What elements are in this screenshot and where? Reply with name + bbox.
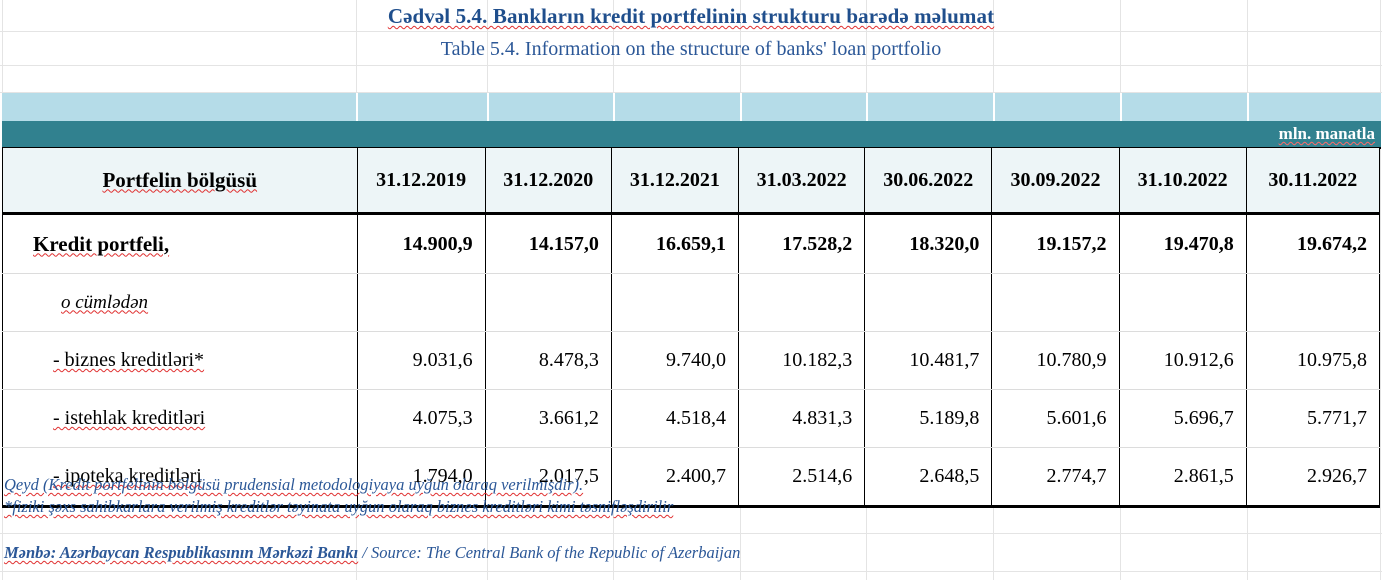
unit-label: mln. manatla bbox=[1279, 124, 1375, 144]
table-cell bbox=[865, 274, 992, 332]
table-cell: 19.470,8 bbox=[1119, 214, 1246, 274]
table-cell: 5.601,6 bbox=[992, 390, 1119, 448]
light-band bbox=[2, 93, 1381, 121]
source-label-az: Mənbə: Azərbaycan Respublikasının Mərkəz… bbox=[4, 543, 358, 562]
table-cell: 2.861,5 bbox=[1119, 448, 1246, 507]
column-header-date: 30.09.2022 bbox=[992, 148, 1119, 214]
footnote-methodology: Qeyd (Kredit portfelinin bölgüsü prudens… bbox=[4, 474, 864, 496]
column-header-label: Portfelin bölgüsü bbox=[3, 148, 358, 214]
table-cell: 4.518,4 bbox=[611, 390, 738, 448]
table-cell bbox=[1119, 274, 1246, 332]
table-cell: 2.648,5 bbox=[865, 448, 992, 507]
table-cell: 4.831,3 bbox=[739, 390, 865, 448]
table-cell: 2.926,7 bbox=[1246, 448, 1379, 507]
table-cell: 14.900,9 bbox=[357, 214, 485, 274]
column-header-date: 31.12.2021 bbox=[611, 148, 738, 214]
column-header-date: 31.10.2022 bbox=[1119, 148, 1246, 214]
table-cell: 9.740,0 bbox=[611, 332, 738, 390]
table-cell: 2.774,7 bbox=[992, 448, 1119, 507]
table-cell: 3.661,2 bbox=[485, 390, 611, 448]
unit-band: mln. manatla bbox=[2, 121, 1381, 149]
table-cell bbox=[992, 274, 1119, 332]
table-cell: 9.031,6 bbox=[357, 332, 485, 390]
table-cell: 17.528,2 bbox=[739, 214, 865, 274]
table-cell: 18.320,0 bbox=[865, 214, 992, 274]
table-cell bbox=[611, 274, 738, 332]
source-label-en: / Source: The Central Bank of the Republ… bbox=[358, 543, 740, 562]
page-title-en: Table 5.4. Information on the structure … bbox=[0, 30, 1382, 63]
table-cell: 5.696,7 bbox=[1119, 390, 1246, 448]
row-label: Kredit portfeli, bbox=[3, 214, 358, 274]
table-cell: 19.157,2 bbox=[992, 214, 1119, 274]
row-label: - biznes kreditləri* bbox=[3, 332, 358, 390]
table-cell bbox=[485, 274, 611, 332]
table-row: - istehlak kreditləri 4.075,3 3.661,2 4.… bbox=[3, 390, 1380, 448]
table-cell: 10.912,6 bbox=[1119, 332, 1246, 390]
table-row: Kredit portfeli, 14.900,9 14.157,0 16.65… bbox=[3, 214, 1380, 274]
table-cell: 5.771,7 bbox=[1246, 390, 1379, 448]
column-header-date: 31.12.2020 bbox=[485, 148, 611, 214]
row-label: o cümlədən bbox=[3, 274, 358, 332]
table-cell: 10.975,8 bbox=[1246, 332, 1379, 390]
spreadsheet-page: Cədvəl 5.4. Bankların kredit portfelinin… bbox=[0, 0, 1382, 580]
table-cell: 16.659,1 bbox=[611, 214, 738, 274]
loan-portfolio-table: Portfelin bölgüsü 31.12.2019 31.12.2020 … bbox=[2, 147, 1380, 508]
footnote-asterisk: *fiziki şəxs sahibkarlara verilmiş kredi… bbox=[4, 496, 864, 518]
table-cell: 10.182,3 bbox=[739, 332, 865, 390]
table-cell: 5.189,8 bbox=[865, 390, 992, 448]
table-cell: 10.780,9 bbox=[992, 332, 1119, 390]
column-header-date: 31.12.2019 bbox=[357, 148, 485, 214]
page-title-az: Cədvəl 5.4. Bankların kredit portfelinin… bbox=[0, 0, 1382, 30]
table-cell bbox=[357, 274, 485, 332]
column-header-date: 30.11.2022 bbox=[1246, 148, 1379, 214]
column-header-date: 31.03.2022 bbox=[739, 148, 865, 214]
table-row: - biznes kreditləri* 9.031,6 8.478,3 9.7… bbox=[3, 332, 1380, 390]
table-cell: 14.157,0 bbox=[485, 214, 611, 274]
table-cell: 4.075,3 bbox=[357, 390, 485, 448]
table-header-row: Portfelin bölgüsü 31.12.2019 31.12.2020 … bbox=[3, 148, 1380, 214]
title-block: Cədvəl 5.4. Bankların kredit portfelinin… bbox=[0, 0, 1382, 63]
table-cell: 8.478,3 bbox=[485, 332, 611, 390]
footnotes: Qeyd (Kredit portfelinin bölgüsü prudens… bbox=[4, 474, 864, 518]
table-cell: 19.674,2 bbox=[1246, 214, 1379, 274]
table-row: o cümlədən bbox=[3, 274, 1380, 332]
table-cell: 10.481,7 bbox=[865, 332, 992, 390]
source-line: Mənbə: Azərbaycan Respublikasının Mərkəz… bbox=[4, 542, 1004, 564]
table-cell bbox=[1246, 274, 1379, 332]
row-label: - istehlak kreditləri bbox=[3, 390, 358, 448]
column-header-date: 30.06.2022 bbox=[865, 148, 992, 214]
table-cell bbox=[739, 274, 865, 332]
